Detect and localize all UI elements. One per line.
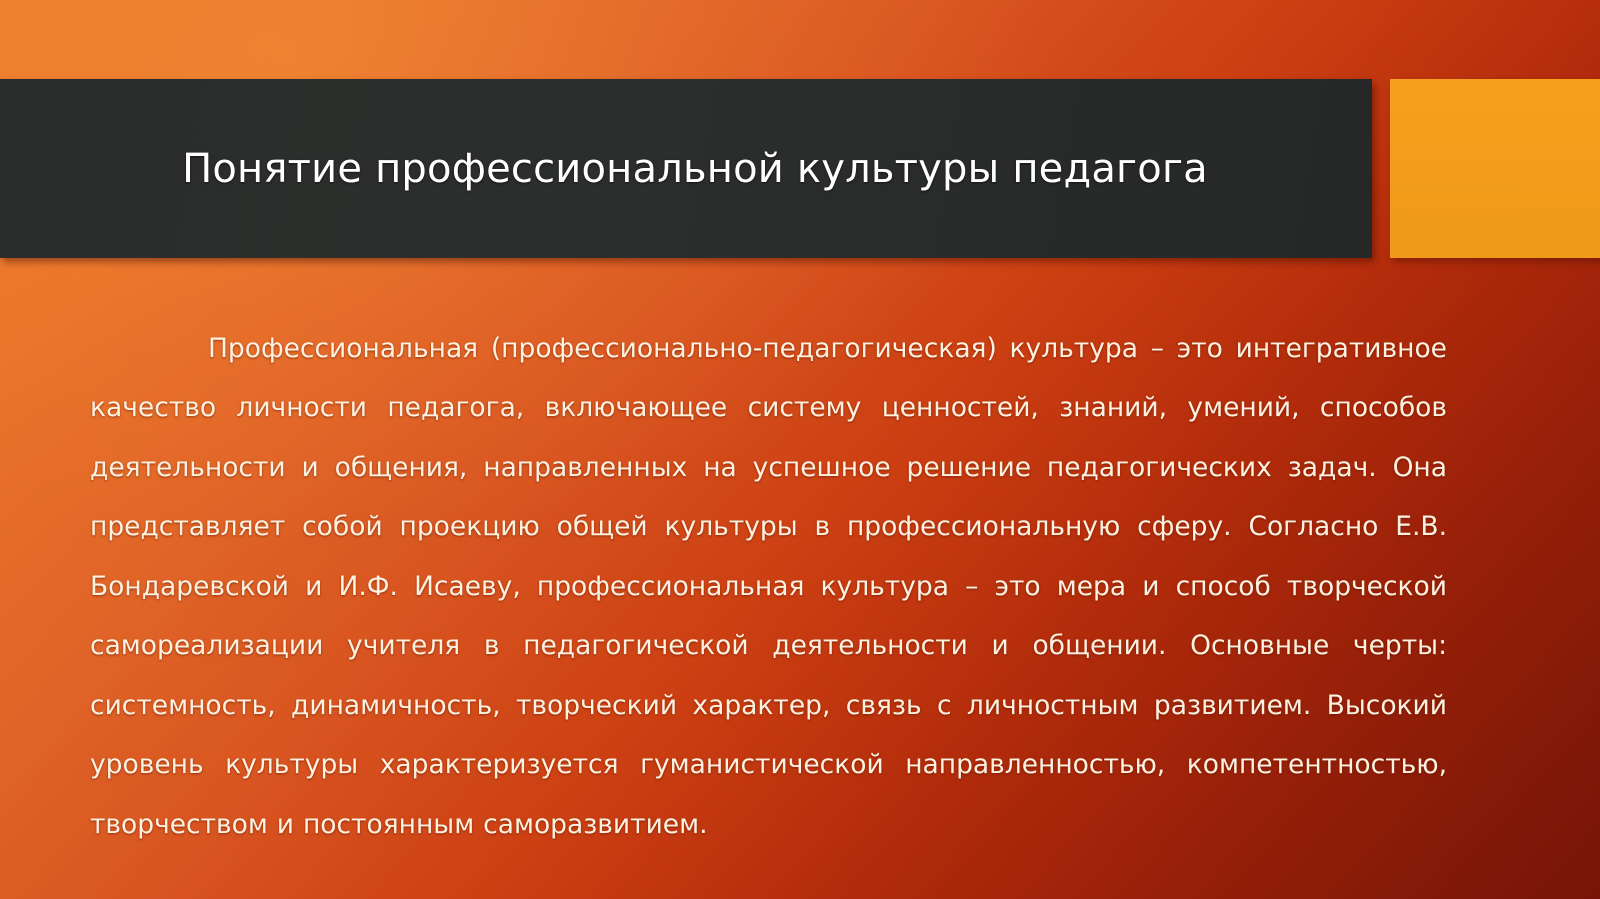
slide-body-container: Профессиональная (профессионально-педаго…	[90, 292, 1447, 881]
slide-title-band: Понятие профессиональной культуры педаго…	[0, 79, 1372, 258]
presentation-slide: Понятие профессиональной культуры педаго…	[0, 0, 1600, 899]
page-title: Понятие профессиональной культуры педаго…	[0, 146, 1372, 192]
slide-body-paragraph: Профессиональная (профессионально-педаго…	[90, 319, 1447, 855]
accent-block-decoration	[1390, 79, 1600, 258]
